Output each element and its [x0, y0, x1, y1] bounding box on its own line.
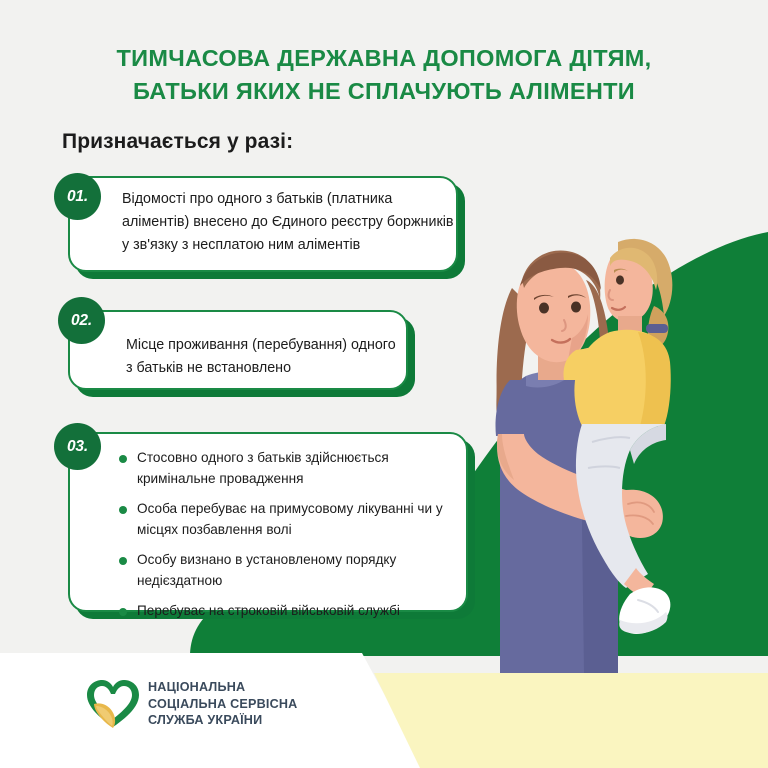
heart-with-hand-icon [84, 678, 142, 730]
condition-card-2-text: Місце проживання (перебування) одного з … [126, 334, 406, 380]
condition-card-1: Відомості про одного з батьків (платника… [68, 176, 458, 272]
list-item: Особу визнано в установленому порядку не… [119, 550, 459, 592]
condition-card-1-text: Відомості про одного з батьків (платника… [122, 188, 456, 257]
footer-yellow-panel [374, 673, 768, 768]
list-item-label: Перебуває на строковій військовій службі [137, 601, 400, 622]
list-item-label: Особу визнано в установленому порядку не… [137, 550, 459, 592]
list-item-label: Особа перебуває на примусовому лікуванні… [137, 499, 459, 541]
list-item: Перебуває на строковій військовій службі [119, 601, 459, 622]
footer-org-line-2: СОЦІАЛЬНА СЕРВІСНА [148, 696, 297, 713]
list-item: Стосовно одного з батьків здійснюється к… [119, 448, 459, 490]
bullet-dot-icon [119, 608, 127, 616]
list-item-label: Стосовно одного з батьків здійснюється к… [137, 448, 459, 490]
page-title-line-2: БАТЬКИ ЯКИХ НЕ СПЛАЧУЮТЬ АЛІМЕНТИ [0, 75, 768, 108]
mother-holding-child-illustration [468, 228, 768, 673]
condition-card-1-number: 01. [54, 173, 101, 220]
subtitle: Призначається у разі: [62, 130, 293, 154]
infographic-canvas: ТИМЧАСОВА ДЕРЖАВНА ДОПОМОГА ДІТЯМ, БАТЬК… [0, 0, 768, 768]
footer-org-line-3: СЛУЖБА УКРАЇНИ [148, 712, 297, 729]
bullet-dot-icon [119, 455, 127, 463]
bullet-dot-icon [119, 557, 127, 565]
footer-org-name: НАЦІОНАЛЬНА СОЦІАЛЬНА СЕРВІСНА СЛУЖБА УК… [148, 679, 297, 729]
bullet-dot-icon [119, 506, 127, 514]
condition-card-3-number: 03. [54, 423, 101, 470]
page-title-line-1: ТИМЧАСОВА ДЕРЖАВНА ДОПОМОГА ДІТЯМ, [0, 42, 768, 75]
condition-card-2-number: 02. [58, 297, 105, 344]
condition-card-3: Стосовно одного з батьків здійснюється к… [68, 432, 468, 612]
footer-logo: НАЦІОНАЛЬНА СОЦІАЛЬНА СЕРВІСНА СЛУЖБА УК… [84, 678, 297, 730]
list-item: Особа перебуває на примусовому лікуванні… [119, 499, 459, 541]
page-title: ТИМЧАСОВА ДЕРЖАВНА ДОПОМОГА ДІТЯМ, БАТЬК… [0, 42, 768, 109]
condition-card-2: Місце проживання (перебування) одного з … [68, 310, 408, 390]
condition-card-3-bullet-list: Стосовно одного з батьків здійснюється к… [119, 448, 459, 621]
footer-org-line-1: НАЦІОНАЛЬНА [148, 679, 297, 696]
